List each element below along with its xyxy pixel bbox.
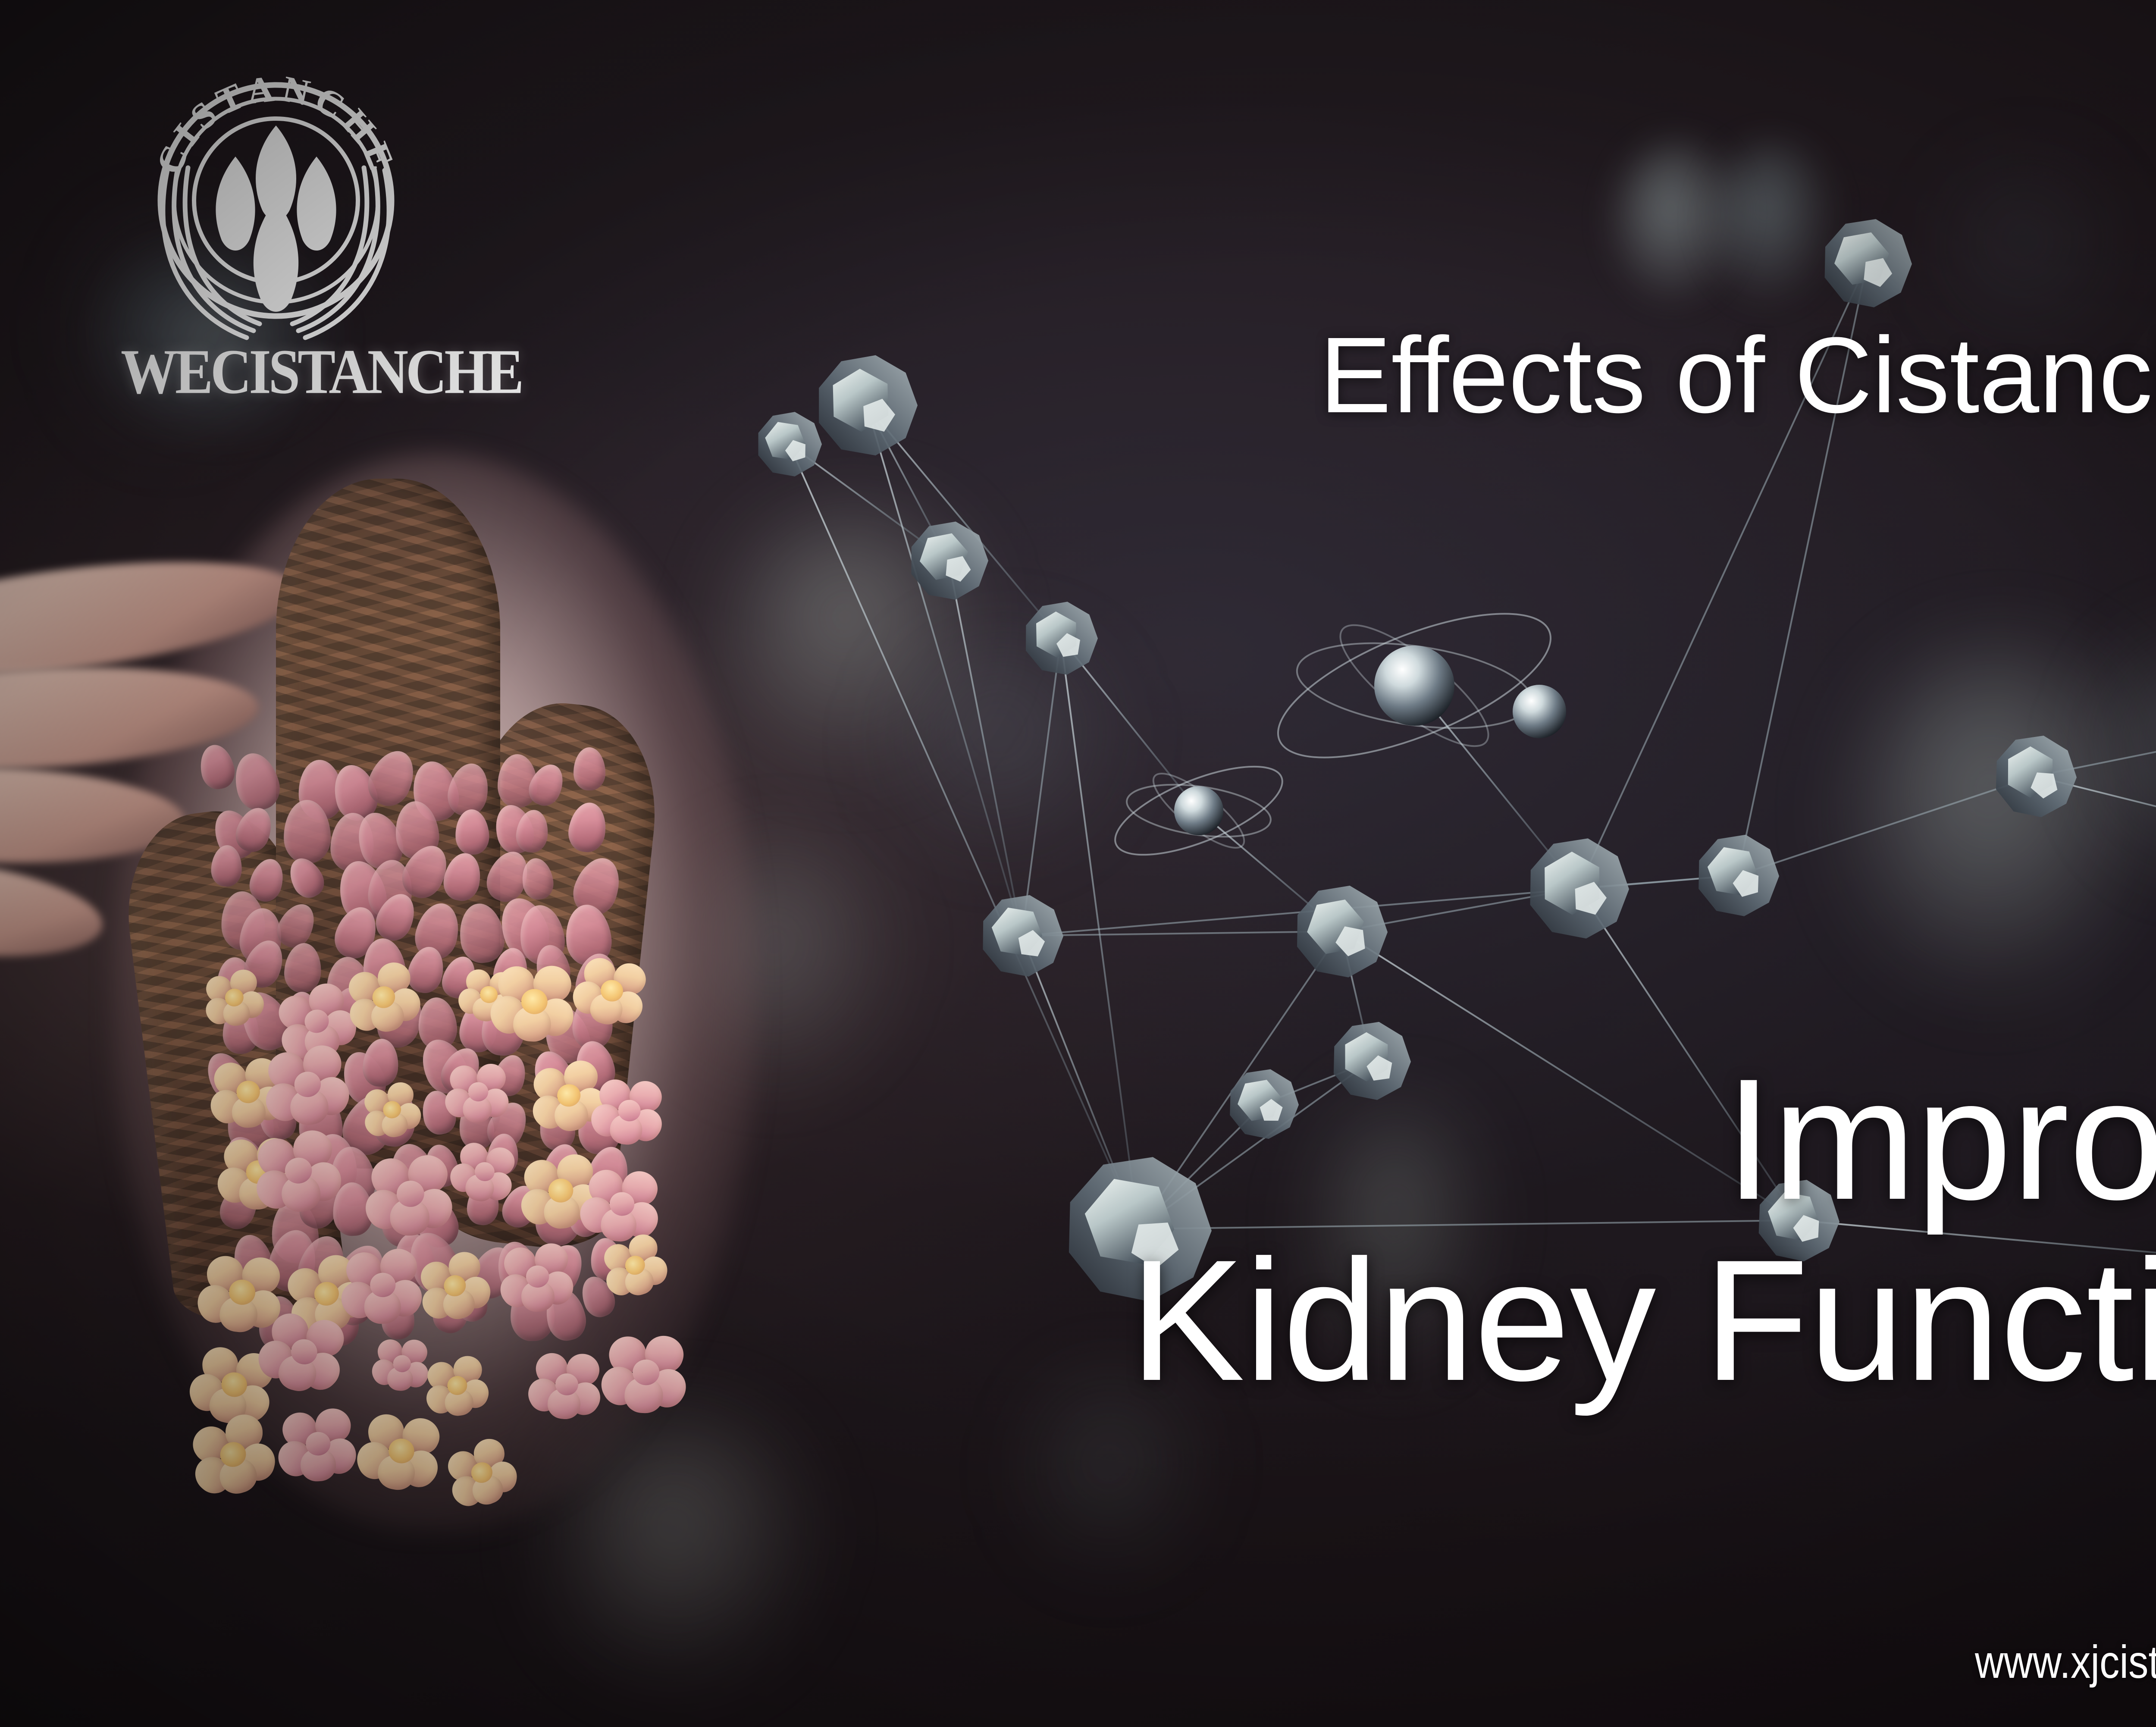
network-edge xyxy=(949,561,1022,936)
plant-flower xyxy=(340,1247,426,1327)
plant-flower xyxy=(600,1332,691,1417)
website-url[interactable]: www.xjcistanche.com xyxy=(1975,1639,2156,1685)
network-node-atom xyxy=(1260,584,1568,787)
network-node-poly xyxy=(1825,219,1912,307)
network-node-poly xyxy=(819,355,918,455)
plant-flower xyxy=(365,1153,456,1238)
network-node-poly xyxy=(1530,838,1630,938)
plant-flower xyxy=(249,1125,349,1221)
network-node-poly xyxy=(911,522,988,600)
plant-flower xyxy=(421,1352,494,1422)
network-node-poly xyxy=(1297,886,1388,978)
network-node-poly xyxy=(1334,1022,1411,1100)
brand-wordmark: WECISTANCHE xyxy=(121,335,521,408)
cistanche-plant-photo xyxy=(0,427,802,1626)
plant-flower xyxy=(353,1407,449,1499)
plant-flower xyxy=(498,1241,578,1316)
plant-flower xyxy=(260,1041,356,1132)
network-node-poly xyxy=(1026,602,1098,674)
network-edge xyxy=(1022,638,1061,936)
plant-flower xyxy=(526,1348,607,1424)
plant-flower xyxy=(276,1406,360,1486)
network-node-atom xyxy=(1104,749,1293,873)
network-node-sphere xyxy=(1513,685,1566,738)
headline-line-1: Improve xyxy=(1725,1056,2156,1222)
plant-flower xyxy=(200,965,270,1032)
network-edge xyxy=(1738,776,2035,875)
brand-logo[interactable]: CISTANCHE WECISTANCHE xyxy=(129,41,423,429)
eyebrow-heading: Effects of Cistanche xyxy=(1319,321,2156,429)
poster-canvas: CISTANCHE WECISTANCHE Effects of Cistanc… xyxy=(0,0,2156,1727)
plant-flower xyxy=(445,1063,511,1124)
headline-line-2: Kidney Function xyxy=(1130,1238,2156,1403)
plant-flower xyxy=(489,962,579,1046)
network-node-poly xyxy=(1698,835,1779,916)
plant-flower xyxy=(589,1074,669,1151)
hand-finger xyxy=(0,844,108,971)
network-node-poly xyxy=(1996,736,2077,817)
